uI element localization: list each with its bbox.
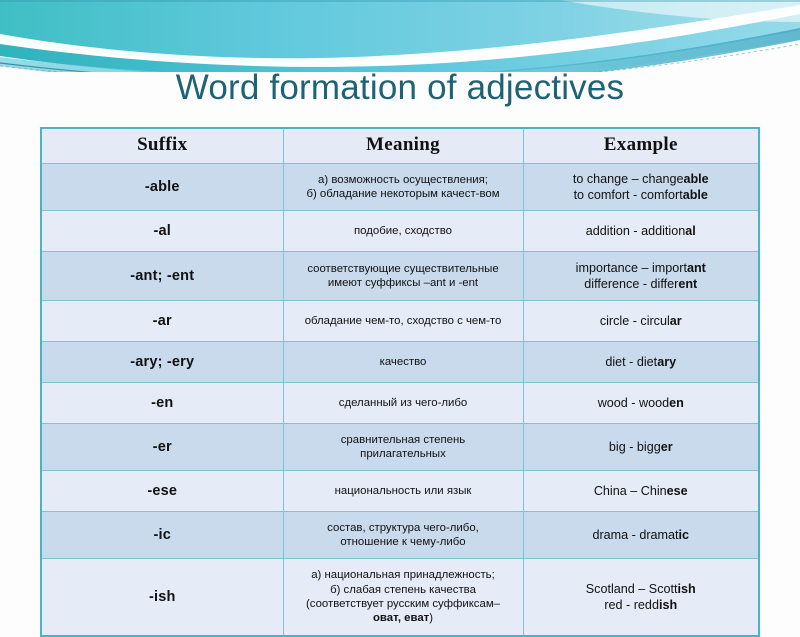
cell-example: Scotland – Scottishred - reddish [523, 559, 759, 637]
table-header-row: Suffix Meaning Example [41, 128, 759, 164]
cell-example: drama - dramatic [523, 512, 759, 559]
example-suffix-highlight: ic [679, 528, 690, 542]
table-row: -eseнациональность или языкChina – Chine… [41, 471, 759, 512]
example-suffix-highlight: en [669, 396, 684, 410]
cell-meaning: подобие, сходство [283, 211, 523, 252]
table-row: -icсостав, структура чего-либо,отношение… [41, 512, 759, 559]
meaning-line: сделанный из чего-либо [288, 396, 519, 410]
example-suffix-highlight: able [683, 172, 708, 186]
cell-suffix: -able [41, 164, 283, 211]
meaning-line: а) возможность осуществления; [288, 173, 519, 187]
meaning-line: оват, еват) [288, 611, 519, 625]
example-suffix-highlight: ish [659, 598, 677, 612]
example-suffix-highlight: ent [678, 277, 697, 291]
column-header-example: Example [523, 128, 759, 164]
cell-example: big - bigger [523, 424, 759, 471]
example-line: addition - additional [528, 223, 755, 239]
meaning-line: качество [288, 355, 519, 369]
meaning-line: б) слабая степень качества [288, 583, 519, 597]
cell-meaning: сравнительная степеньприлагательных [283, 424, 523, 471]
cell-meaning: сделанный из чего-либо [283, 383, 523, 424]
cell-example: to change – changeableto comfort - comfo… [523, 164, 759, 211]
cell-meaning: национальность или язык [283, 471, 523, 512]
example-suffix-highlight: er [661, 440, 673, 454]
suffix-table-container: Suffix Meaning Example -ableа) возможнос… [40, 127, 758, 637]
cell-example: importance – importantdifference - diffe… [523, 252, 759, 301]
table-row: -enсделанный из чего-либоwood - wooden [41, 383, 759, 424]
table-row: -arобладание чем-то, сходство с чем-тоci… [41, 301, 759, 342]
suffix-table: Suffix Meaning Example -ableа) возможнос… [40, 127, 760, 637]
cell-example: China – Chinese [523, 471, 759, 512]
example-suffix-highlight: ar [670, 314, 682, 328]
meaning-line: б) обладание некоторым качест-вом [288, 187, 519, 201]
cell-meaning: качество [283, 342, 523, 383]
example-suffix-highlight: able [683, 188, 708, 202]
cell-meaning: а) возможность осуществления;б) обладани… [283, 164, 523, 211]
example-line: diet - dietary [528, 354, 755, 370]
meaning-line: сравнительная степень [288, 433, 519, 447]
cell-meaning: а) национальная принадлежность;б) слабая… [283, 559, 523, 637]
table-row: -ant; -entсоответствующие существительны… [41, 252, 759, 301]
example-line: importance – important [528, 260, 755, 276]
meaning-line: а) национальная принадлежность; [288, 568, 519, 582]
header-decoration [0, 0, 800, 72]
cell-meaning: обладание чем-то, сходство с чем-то [283, 301, 523, 342]
meaning-line: отношение к чему-либо [288, 535, 519, 549]
table-row: -ishа) национальная принадлежность;б) сл… [41, 559, 759, 637]
cell-suffix: -ese [41, 471, 283, 512]
cell-suffix: -en [41, 383, 283, 424]
table-row: -ableа) возможность осуществления;б) обл… [41, 164, 759, 211]
example-line: wood - wooden [528, 395, 755, 411]
table-row: -ary; -eryкачествоdiet - dietary [41, 342, 759, 383]
example-suffix-highlight: ary [657, 355, 676, 369]
cell-suffix: -al [41, 211, 283, 252]
example-line: to change – changeable [528, 171, 755, 187]
cell-suffix: -ic [41, 512, 283, 559]
example-suffix-highlight: ese [667, 484, 688, 498]
example-line: difference - different [528, 276, 755, 292]
header-wave-graphic [0, 0, 800, 72]
cell-meaning: соответствующие существительныеимеют суф… [283, 252, 523, 301]
table-row: -alподобие, сходствоaddition - additiona… [41, 211, 759, 252]
example-suffix-highlight: al [685, 224, 696, 238]
cell-example: addition - additional [523, 211, 759, 252]
example-line: China – Chinese [528, 483, 755, 499]
cell-example: diet - dietary [523, 342, 759, 383]
column-header-meaning: Meaning [283, 128, 523, 164]
meaning-line: состав, структура чего-либо, [288, 521, 519, 535]
example-line: circle - circular [528, 313, 755, 329]
meaning-line: национальность или язык [288, 484, 519, 498]
table-header: Suffix Meaning Example [41, 128, 759, 164]
meaning-line: (соответствует русским суффиксам– [288, 597, 519, 611]
example-line: drama - dramatic [528, 527, 755, 543]
example-line: big - bigger [528, 439, 755, 455]
meaning-line: соответствующие существительные [288, 262, 519, 276]
cell-suffix: -ar [41, 301, 283, 342]
example-line: to comfort - comfortable [528, 187, 755, 203]
example-line: red - reddish [528, 597, 755, 613]
meaning-line: обладание чем-то, сходство с чем-то [288, 314, 519, 328]
example-suffix-highlight: ant [687, 261, 706, 275]
column-header-suffix: Suffix [41, 128, 283, 164]
cell-example: wood - wooden [523, 383, 759, 424]
example-line: Scotland – Scottish [528, 581, 755, 597]
meaning-line: подобие, сходство [288, 224, 519, 238]
cell-suffix: -ary; -ery [41, 342, 283, 383]
cell-suffix: -ant; -ent [41, 252, 283, 301]
table-row: -erсравнительная степеньприлагательныхbi… [41, 424, 759, 471]
meaning-line: имеют суффиксы –ant и -ent [288, 276, 519, 290]
cell-meaning: состав, структура чего-либо,отношение к … [283, 512, 523, 559]
cell-suffix: -ish [41, 559, 283, 637]
meaning-line: прилагательных [288, 447, 519, 461]
page-title: Word formation of adjectives [0, 68, 800, 108]
cell-suffix: -er [41, 424, 283, 471]
table-body: -ableа) возможность осуществления;б) обл… [41, 164, 759, 637]
cell-example: circle - circular [523, 301, 759, 342]
example-suffix-highlight: ish [678, 582, 696, 596]
